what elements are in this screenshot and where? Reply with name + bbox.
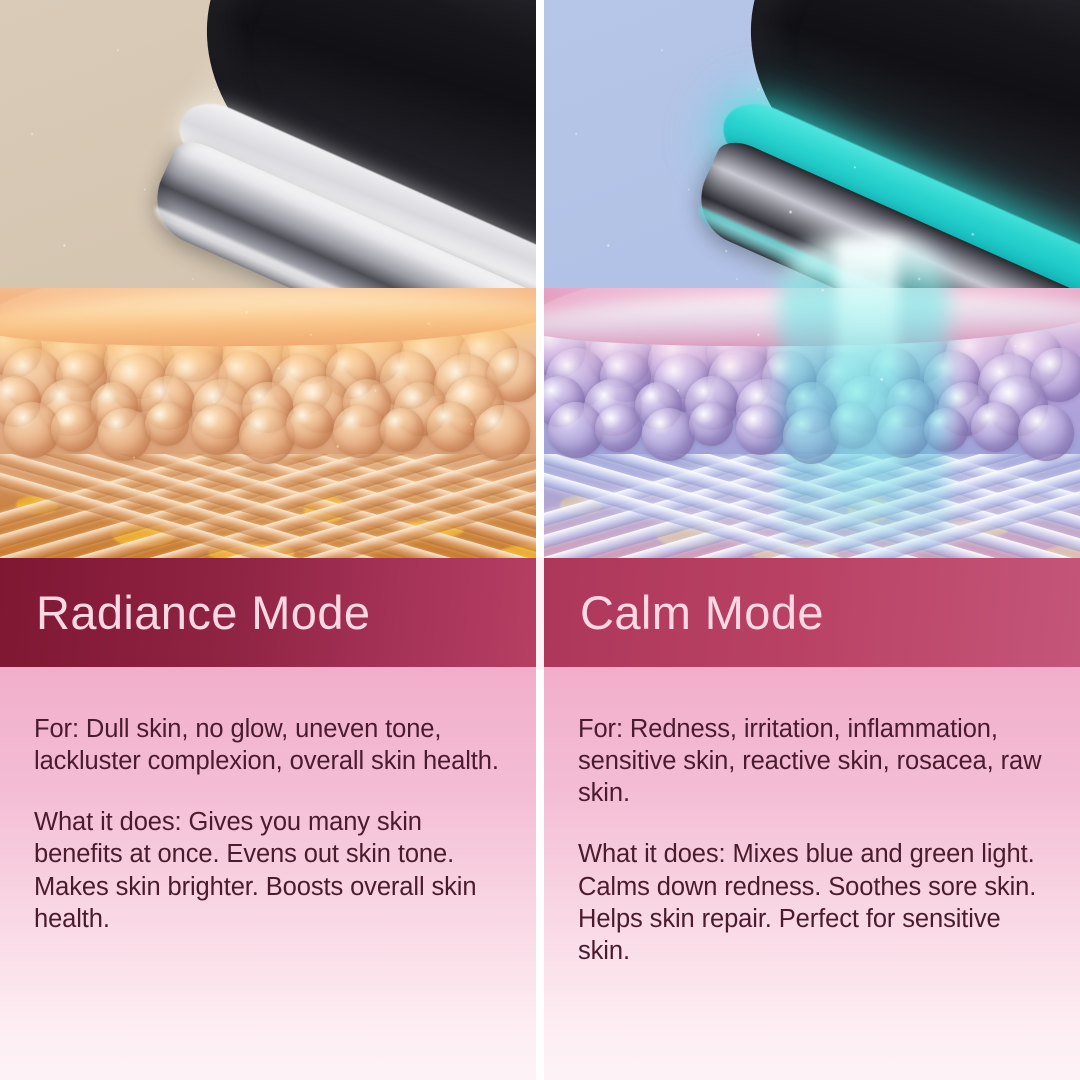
mode-title-radiance: Radiance Mode	[36, 589, 370, 636]
for-text-calm: For: Redness, irritation, inflammation, …	[578, 713, 1046, 809]
mode-title-calm: Calm Mode	[580, 589, 824, 636]
golden-sparkle-overlay	[0, 0, 536, 558]
what-it-does-text-radiance: What it does: Gives you many skin benefi…	[34, 806, 502, 935]
light-sparkle-overlay	[544, 0, 1080, 558]
copy-block-radiance: For: Dull skin, no glow, uneven tone, la…	[0, 667, 536, 1080]
copy-block-calm: For: Redness, irritation, inflammation, …	[544, 667, 1080, 1080]
panel-radiance: Radiance Mode For: Dull skin, no glow, u…	[0, 0, 536, 1080]
for-text-radiance: For: Dull skin, no glow, uneven tone, la…	[34, 713, 502, 777]
hero-image-radiance	[0, 0, 536, 558]
panel-calm: Calm Mode For: Redness, irritation, infl…	[544, 0, 1080, 1080]
comparison-infographic: Radiance Mode For: Dull skin, no glow, u…	[0, 0, 1080, 1080]
panel-divider	[536, 0, 544, 1080]
hero-image-calm	[544, 0, 1080, 558]
title-band-radiance: Radiance Mode	[0, 558, 536, 667]
what-it-does-text-calm: What it does: Mixes blue and green light…	[578, 838, 1046, 967]
title-band-calm: Calm Mode	[544, 558, 1080, 667]
